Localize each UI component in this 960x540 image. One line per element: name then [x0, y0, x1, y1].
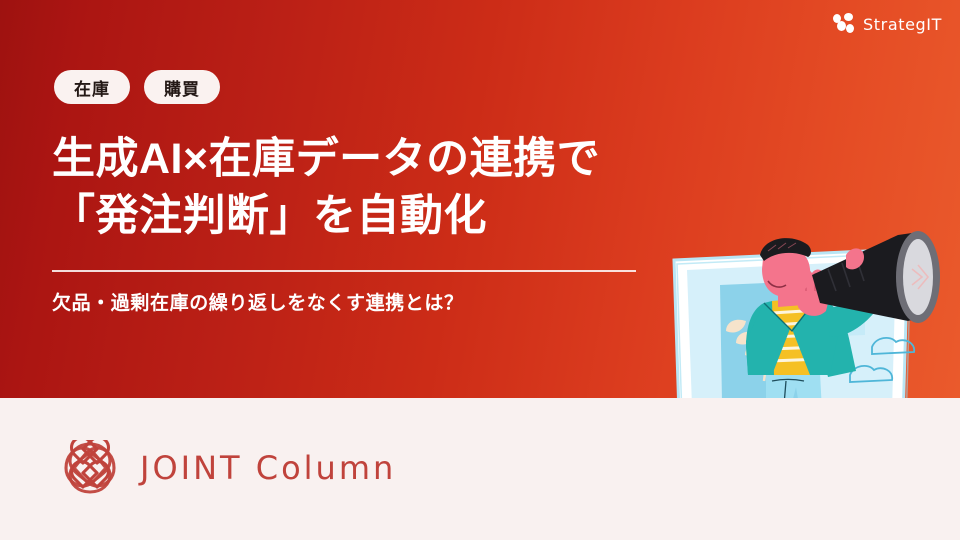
interlaced-knot-icon	[62, 440, 118, 496]
title-divider	[52, 270, 636, 272]
tag-zaiko[interactable]: 在庫	[54, 70, 130, 104]
four-dots-icon	[832, 12, 856, 36]
joint-column-label: JOINT Column	[140, 449, 396, 487]
joint-column-logo[interactable]: JOINT Column	[62, 440, 396, 496]
page-title-line-1: 生成AI×在庫データの連携で	[52, 131, 692, 188]
strategit-brand: StrategIT	[832, 12, 942, 36]
tag-list: 在庫 購買	[54, 70, 220, 104]
brand-name-label: StrategIT	[863, 15, 942, 34]
page-title-line-2: 「発注判断」を自動化	[52, 188, 692, 245]
page-title: 生成AI×在庫データの連携で 「発注判断」を自動化	[52, 131, 692, 245]
tag-kobai[interactable]: 購買	[144, 70, 220, 104]
page-subtitle: 欠品・過剰在庫の繰り返しをなくす連携とは？	[52, 288, 464, 315]
banner-graphic: StrategIT 在庫 購買 生成AI×在庫データの連携で 「発注判断」を自動…	[0, 0, 960, 540]
